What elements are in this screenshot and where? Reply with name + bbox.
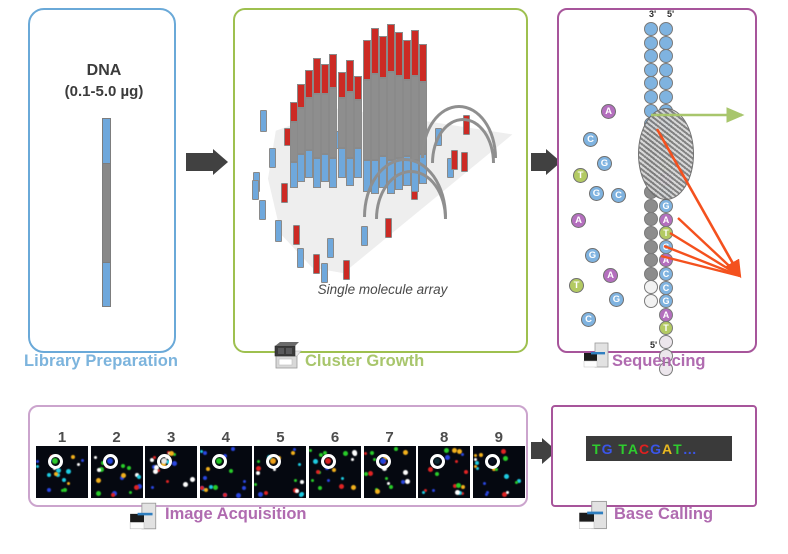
fluorescent-spot	[293, 448, 296, 451]
fluorescent-spot	[364, 472, 368, 476]
sequencing-optics-overlay	[557, 8, 757, 353]
fluorescent-spot	[200, 450, 203, 453]
fluorescent-spot	[264, 491, 268, 495]
fluorescent-spot	[332, 468, 336, 472]
cluster-strand-segment	[313, 94, 321, 158]
fluorescent-spot	[137, 475, 141, 479]
cluster-strand-segment	[329, 158, 337, 188]
fluorescent-spot	[94, 456, 97, 459]
cluster-strand-segment	[371, 28, 379, 74]
flowcell-image	[145, 446, 197, 498]
panel-cluster-growth: Single molecule array	[233, 8, 528, 353]
fluorescent-spot	[351, 485, 356, 490]
single-molecule	[385, 218, 392, 238]
sequencing-instrument-icon	[582, 340, 612, 375]
label-image-acquisition: Image Acquisition	[165, 505, 465, 524]
focus-ring-marker	[485, 454, 500, 469]
dna-title: DNA	[30, 62, 178, 80]
fluorescent-spot	[242, 486, 246, 490]
called-base: A	[662, 441, 673, 457]
cluster-strand-segment	[371, 74, 379, 160]
cluster-strand-segment	[354, 148, 362, 178]
flowcell-image	[254, 446, 306, 498]
fluorescent-spot	[486, 491, 489, 494]
cluster-strand-segment	[379, 78, 387, 156]
fluorescent-spot	[318, 486, 322, 490]
flowcell-image	[91, 446, 143, 498]
fluorescent-spot	[298, 463, 301, 466]
fluorescent-spot	[97, 468, 101, 472]
cycle-number: 5	[254, 429, 306, 446]
fluorescent-spot	[229, 469, 233, 473]
cluster-strand-segment	[329, 54, 337, 88]
cluster-strand-segment	[419, 44, 427, 82]
fluorescent-spot	[209, 485, 213, 489]
fluorescent-spot	[479, 453, 483, 457]
fluorescent-spot	[231, 447, 235, 451]
fluorescent-spot	[256, 466, 261, 471]
label-sequencing: Sequencing	[612, 352, 788, 371]
cluster-strand-segment	[395, 76, 403, 158]
fluorescent-spot	[96, 478, 101, 483]
fluorescent-spot	[422, 491, 425, 494]
called-base: T	[618, 441, 628, 457]
fluorescent-spot	[501, 449, 506, 454]
cycle-number: 1	[36, 429, 88, 446]
fluorescent-spot	[96, 491, 101, 496]
fluorescent-spot	[206, 467, 210, 471]
fluorescent-spot	[258, 492, 263, 497]
fluorescent-spot	[504, 474, 509, 479]
fluorescent-spot	[67, 482, 70, 485]
flowcell-image	[36, 446, 88, 498]
fluorescent-spot	[455, 460, 458, 463]
cycle-number: 2	[91, 429, 143, 446]
cycle-number: 7	[364, 429, 416, 446]
fluorescent-spot	[375, 489, 380, 494]
fluorescent-spot	[295, 489, 299, 493]
single-molecule	[321, 263, 328, 283]
fluorescent-spot	[474, 458, 477, 461]
focus-ring-marker	[157, 454, 172, 469]
single-molecule	[269, 148, 276, 168]
flowcell-image	[473, 446, 525, 498]
fluorescent-spot	[403, 470, 408, 475]
fluorescent-spot	[166, 480, 169, 483]
fluorescent-spot	[343, 451, 348, 456]
image-acquisition-instrument-icon	[128, 500, 160, 537]
fluorescent-spot	[385, 477, 388, 480]
called-base: C	[639, 441, 650, 457]
focus-ring-marker	[212, 454, 227, 469]
cluster-strand-segment	[354, 76, 362, 100]
cluster-strand-segment	[290, 122, 298, 162]
cluster-strand-segment	[321, 94, 329, 154]
fluorescent-spot	[183, 482, 188, 487]
cycle-number: 8	[418, 429, 470, 446]
cluster-strand-segment	[297, 84, 305, 108]
cluster-strand-segment	[338, 98, 346, 148]
cycle-tile[interactable]: 4	[200, 429, 252, 498]
single-molecule	[260, 110, 267, 132]
fluorescent-spot	[111, 493, 115, 497]
fluorescent-spot	[483, 482, 486, 485]
fluorescent-spot	[474, 465, 477, 468]
single-molecule	[275, 220, 282, 242]
cluster-strand-segment	[297, 154, 305, 182]
fluorescent-spot	[121, 464, 125, 468]
fluorescent-spot	[134, 485, 139, 490]
cycle-tile[interactable]: 8	[418, 429, 470, 498]
cluster-growth-instrument-icon	[272, 342, 302, 375]
fluorescent-spot	[66, 469, 71, 474]
cluster-strand-segment	[305, 150, 313, 178]
fluorescent-spot	[153, 456, 156, 459]
cluster-strand-segment	[305, 98, 313, 150]
cluster-strand-segment	[346, 60, 354, 92]
fluorescent-spot	[515, 481, 518, 484]
fluorescent-spot	[435, 472, 439, 476]
fluorescent-spot	[254, 483, 257, 486]
base-call-readout: TG TACGAT…	[586, 436, 732, 461]
flowcell-image	[200, 446, 252, 498]
fluorescent-spot	[47, 488, 51, 492]
called-base: G	[602, 441, 614, 457]
fluorescent-spot	[127, 466, 131, 470]
cluster-strand-segment	[346, 158, 354, 186]
cycle-number: 6	[309, 429, 361, 446]
focus-ring-marker	[103, 454, 118, 469]
cluster-strand-segment	[338, 148, 346, 178]
fluorescent-spot	[405, 479, 410, 484]
single-molecule	[297, 248, 304, 268]
single-molecule	[293, 225, 300, 245]
fluorescent-spot	[36, 460, 39, 463]
fluorescent-spot	[63, 488, 67, 492]
fluorescent-spot	[172, 461, 177, 466]
fluorescent-spot	[256, 471, 260, 475]
cycle-tile[interactable]: 7	[364, 429, 416, 498]
cluster-strand-segment	[363, 40, 371, 80]
fluorescent-spot	[300, 492, 304, 496]
cluster-strand-segment	[403, 80, 411, 156]
cluster-strand-segment	[313, 58, 321, 94]
fluorescent-spot	[77, 463, 80, 466]
fluorescent-spot	[153, 469, 158, 474]
cluster-strand-segment	[313, 158, 321, 188]
fluorescent-spot	[294, 479, 297, 482]
cycle-number: 3	[145, 429, 197, 446]
fluorescent-spot	[291, 451, 295, 455]
fluorescent-spot	[445, 455, 450, 460]
fluorescent-spot	[257, 460, 260, 463]
fluorescent-spot	[203, 451, 207, 455]
label-base-calling: Base Calling	[614, 505, 788, 524]
fluorescent-spot	[62, 478, 66, 482]
cycle-tile[interactable]: 6	[309, 429, 361, 498]
cluster-strand-segment	[290, 162, 298, 188]
fluorescent-spot	[351, 458, 354, 461]
fluorescent-spot	[300, 480, 304, 484]
fluorescent-spot	[81, 459, 84, 462]
cluster-strand-segment	[363, 80, 371, 160]
fluorescent-spot	[204, 488, 208, 492]
cluster-strand-segment	[395, 32, 403, 76]
flowcell-image	[309, 446, 361, 498]
fluorescent-spot	[203, 476, 207, 480]
cycle-tile[interactable]: 3	[145, 429, 197, 498]
fluorescent-spot	[236, 493, 241, 498]
fluorescent-spot	[47, 473, 51, 477]
cluster-strand-segment	[411, 30, 419, 76]
single-molecule	[259, 200, 266, 220]
focus-ring-marker	[321, 454, 336, 469]
cluster-strand-segment	[338, 72, 346, 98]
fluorescent-spot	[364, 452, 367, 455]
cluster-strand-segment	[305, 70, 313, 98]
fluorescent-spot	[432, 489, 435, 492]
dna-amount: (0.1-5.0 µg)	[30, 83, 178, 100]
cluster-strand-segment	[411, 76, 419, 160]
fluorescent-spot	[243, 480, 246, 483]
cycle-tile[interactable]: 9	[473, 429, 525, 498]
fluorescent-spot	[54, 472, 58, 476]
fluorescent-spot	[403, 450, 408, 455]
cluster-strand-segment	[321, 64, 329, 94]
fluorescent-spot	[503, 456, 508, 461]
cycle-tile[interactable]: 1	[36, 429, 88, 498]
fluorescent-spot	[121, 473, 126, 478]
cluster-strand-segment	[387, 72, 395, 160]
dna-fragment-segment-blue-bottom	[102, 262, 111, 307]
cluster-strand-segment	[329, 88, 337, 158]
cluster-strand-segment	[403, 40, 411, 80]
called-base: T	[592, 441, 602, 457]
called-base: G	[650, 441, 662, 457]
fluorescent-spot	[36, 465, 39, 468]
cycle-tile[interactable]: 2	[91, 429, 143, 498]
cluster-strand-segment	[321, 154, 329, 182]
focus-ring-marker	[48, 454, 63, 469]
single-molecule	[252, 180, 259, 200]
focus-ring-marker	[430, 454, 445, 469]
fluorescent-spot	[313, 459, 318, 464]
called-base: T	[673, 441, 683, 457]
fluorescent-spot	[213, 485, 218, 490]
fluorescent-spot	[353, 452, 357, 456]
cluster-strand-segment	[379, 36, 387, 78]
fluorescent-spot	[311, 479, 314, 482]
focus-ring-marker	[376, 454, 391, 469]
single-molecule	[281, 183, 288, 203]
fluorescent-spot	[464, 470, 468, 474]
cycle-number: 9	[473, 429, 525, 446]
single-molecule	[327, 238, 334, 258]
fluorescent-spot	[309, 449, 312, 452]
fluorescent-spot	[461, 453, 464, 456]
fluorescent-spot	[129, 491, 132, 494]
fluorescent-spot	[190, 477, 195, 482]
cycle-tile[interactable]: 5	[254, 429, 306, 498]
fluorescent-spot	[151, 486, 154, 489]
cluster-strand-segment	[290, 102, 298, 122]
fluorescent-spot	[370, 451, 374, 455]
single-molecule-array-caption: Single molecule array	[235, 282, 530, 297]
single-molecule	[343, 260, 350, 280]
panel-library-preparation: DNA (0.1-5.0 µg)	[28, 8, 176, 353]
fluorescent-spot	[316, 470, 320, 474]
cluster-strand-segment	[346, 92, 354, 158]
fluorescent-spot	[339, 484, 344, 489]
fluorescent-spot	[389, 485, 393, 489]
flowcell-image	[418, 446, 470, 498]
dna-fragment-segment-blue-top	[102, 118, 111, 164]
called-base: A	[628, 441, 639, 457]
panel-image-acquisition: 123456789	[28, 405, 528, 507]
single-molecule	[361, 226, 368, 246]
fluorescent-spot	[223, 493, 227, 497]
fluorescent-spot	[394, 447, 398, 451]
fluorescent-spot	[474, 454, 477, 457]
fluorescent-spot	[461, 485, 465, 489]
dna-fragment-segment-gray	[102, 163, 111, 263]
base-calling-instrument-icon	[577, 498, 611, 537]
fluorescent-spot	[71, 455, 75, 459]
fluorescent-spot	[506, 491, 509, 494]
flowcell-image	[364, 446, 416, 498]
called-base: …	[683, 441, 698, 457]
fluorescent-spot	[200, 486, 204, 490]
cycle-number: 4	[200, 429, 252, 446]
cluster-strand-segment	[297, 108, 305, 154]
fluorescent-spot	[327, 479, 330, 482]
label-cluster-growth: Cluster Growth	[305, 352, 545, 371]
focus-ring-marker	[266, 454, 281, 469]
fluorescent-spot	[401, 480, 405, 484]
fluorescent-spot	[368, 471, 373, 476]
cluster-strand-segment	[387, 24, 395, 72]
single-molecule	[313, 254, 320, 274]
cluster-strand-segment	[354, 100, 362, 148]
fluorescent-spot	[341, 477, 344, 480]
label-library-preparation: Library Preparation	[24, 352, 224, 371]
fluorescent-spot	[444, 448, 449, 453]
